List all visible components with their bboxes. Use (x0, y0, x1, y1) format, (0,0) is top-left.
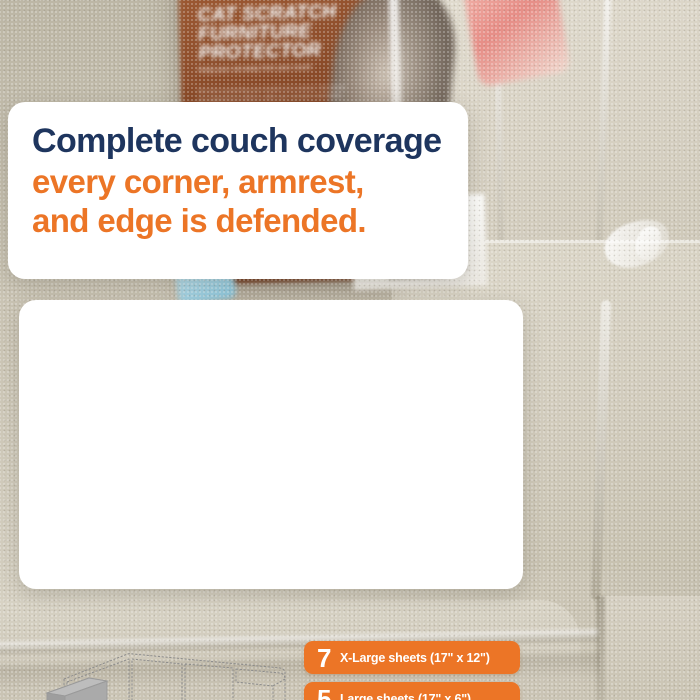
headline-line-1: Complete couch coverage (32, 120, 462, 162)
badge-large-count: 5 (317, 686, 331, 700)
headline-text-block: Complete couch coverage every corner, ar… (32, 120, 462, 240)
badge-xlarge-sheets[interactable]: 7 X-Large sheets (17" x 12") (304, 641, 520, 674)
badge-xlarge-label: X-Large sheets (17" x 12") (340, 651, 490, 665)
sheet-count-badges: 7 X-Large sheets (17" x 12") 5 Large she… (304, 641, 520, 700)
sofa-front-diagram (37, 622, 299, 700)
highlight-left-armrest (47, 678, 107, 700)
specs-card: 7 X-Large sheets (17" x 12") 5 Large she… (19, 300, 523, 589)
headline-line-2: every corner, armrest, (32, 162, 462, 201)
headline-card: Complete couch coverage every corner, ar… (8, 102, 468, 279)
headline-line-3: and edge is defended. (32, 201, 462, 240)
product-infographic: CAT SCRATCHFURNITUREPROTECTOR Keep your … (0, 0, 700, 700)
badge-large-sheets[interactable]: 5 Large sheets (17" x 6") (304, 682, 520, 700)
badge-large-label: Large sheets (17" x 6") (340, 692, 471, 700)
badge-xlarge-count: 7 (317, 645, 331, 671)
